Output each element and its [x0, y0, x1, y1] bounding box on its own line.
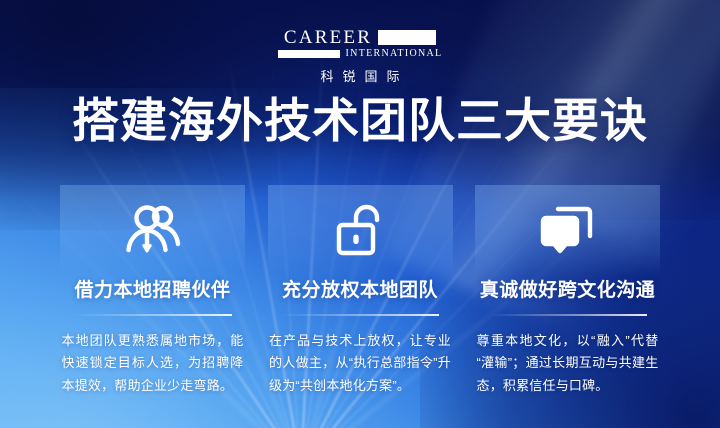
card-item: 充分放权本地团队 在产品与技术上放权，让专业的人做主，从“执行总部指令”升级为“…: [268, 185, 453, 400]
card-heading: 充分放权本地团队: [282, 280, 438, 303]
logo-line-career: CAREER: [284, 28, 436, 47]
logo-block-right: [378, 30, 436, 45]
logo-line-international: INTERNATIONAL: [278, 49, 443, 59]
card-body-text: 尊重本地文化，以“融入”代替“灌输”；通过长期互动与共建生态，积累信任与口碑。: [477, 330, 659, 397]
card-divider: [489, 314, 647, 316]
brand-logo: CAREER INTERNATIONAL 科锐国际: [0, 28, 720, 85]
card-item: 真诚做好跨文化沟通 尊重本地文化，以“融入”代替“灌输”；通过长期互动与共建生态…: [475, 185, 660, 400]
card-divider: [281, 314, 439, 316]
infographic-poster: CAREER INTERNATIONAL 科锐国际 搭建海外技术团队三大要诀: [0, 0, 720, 428]
card-list: 借力本地招聘伙伴 本地团队更熟悉属地市场，能快速锁定目标人选，为招聘降本提效，帮…: [60, 185, 660, 400]
card-item: 借力本地招聘伙伴 本地团队更熟悉属地市场，能快速锁定目标人选，为招聘降本提效，帮…: [60, 185, 245, 400]
card-divider: [74, 314, 232, 316]
card-body-text: 本地团队更熟悉属地市场，能快速锁定目标人选，为招聘降本提效，帮助企业少走弯路。: [62, 330, 244, 397]
unlock-icon: [335, 185, 385, 275]
page-title: 搭建海外技术团队三大要诀: [0, 95, 720, 148]
users-icon: [124, 185, 182, 275]
logo-block-left: [278, 50, 340, 58]
card-body-text: 在产品与技术上放权，让专业的人做主，从“执行总部指令”升级为“共创本地化方案”。: [269, 330, 451, 397]
chat-bubbles-icon: [540, 185, 596, 275]
logo-text-career: CAREER: [284, 28, 372, 47]
card-heading: 借力本地招聘伙伴: [74, 280, 230, 303]
logo-text-chinese: 科锐国际: [311, 66, 408, 85]
logo-text-international: INTERNATIONAL: [346, 49, 443, 59]
card-heading: 真诚做好跨文化沟通: [480, 280, 656, 303]
